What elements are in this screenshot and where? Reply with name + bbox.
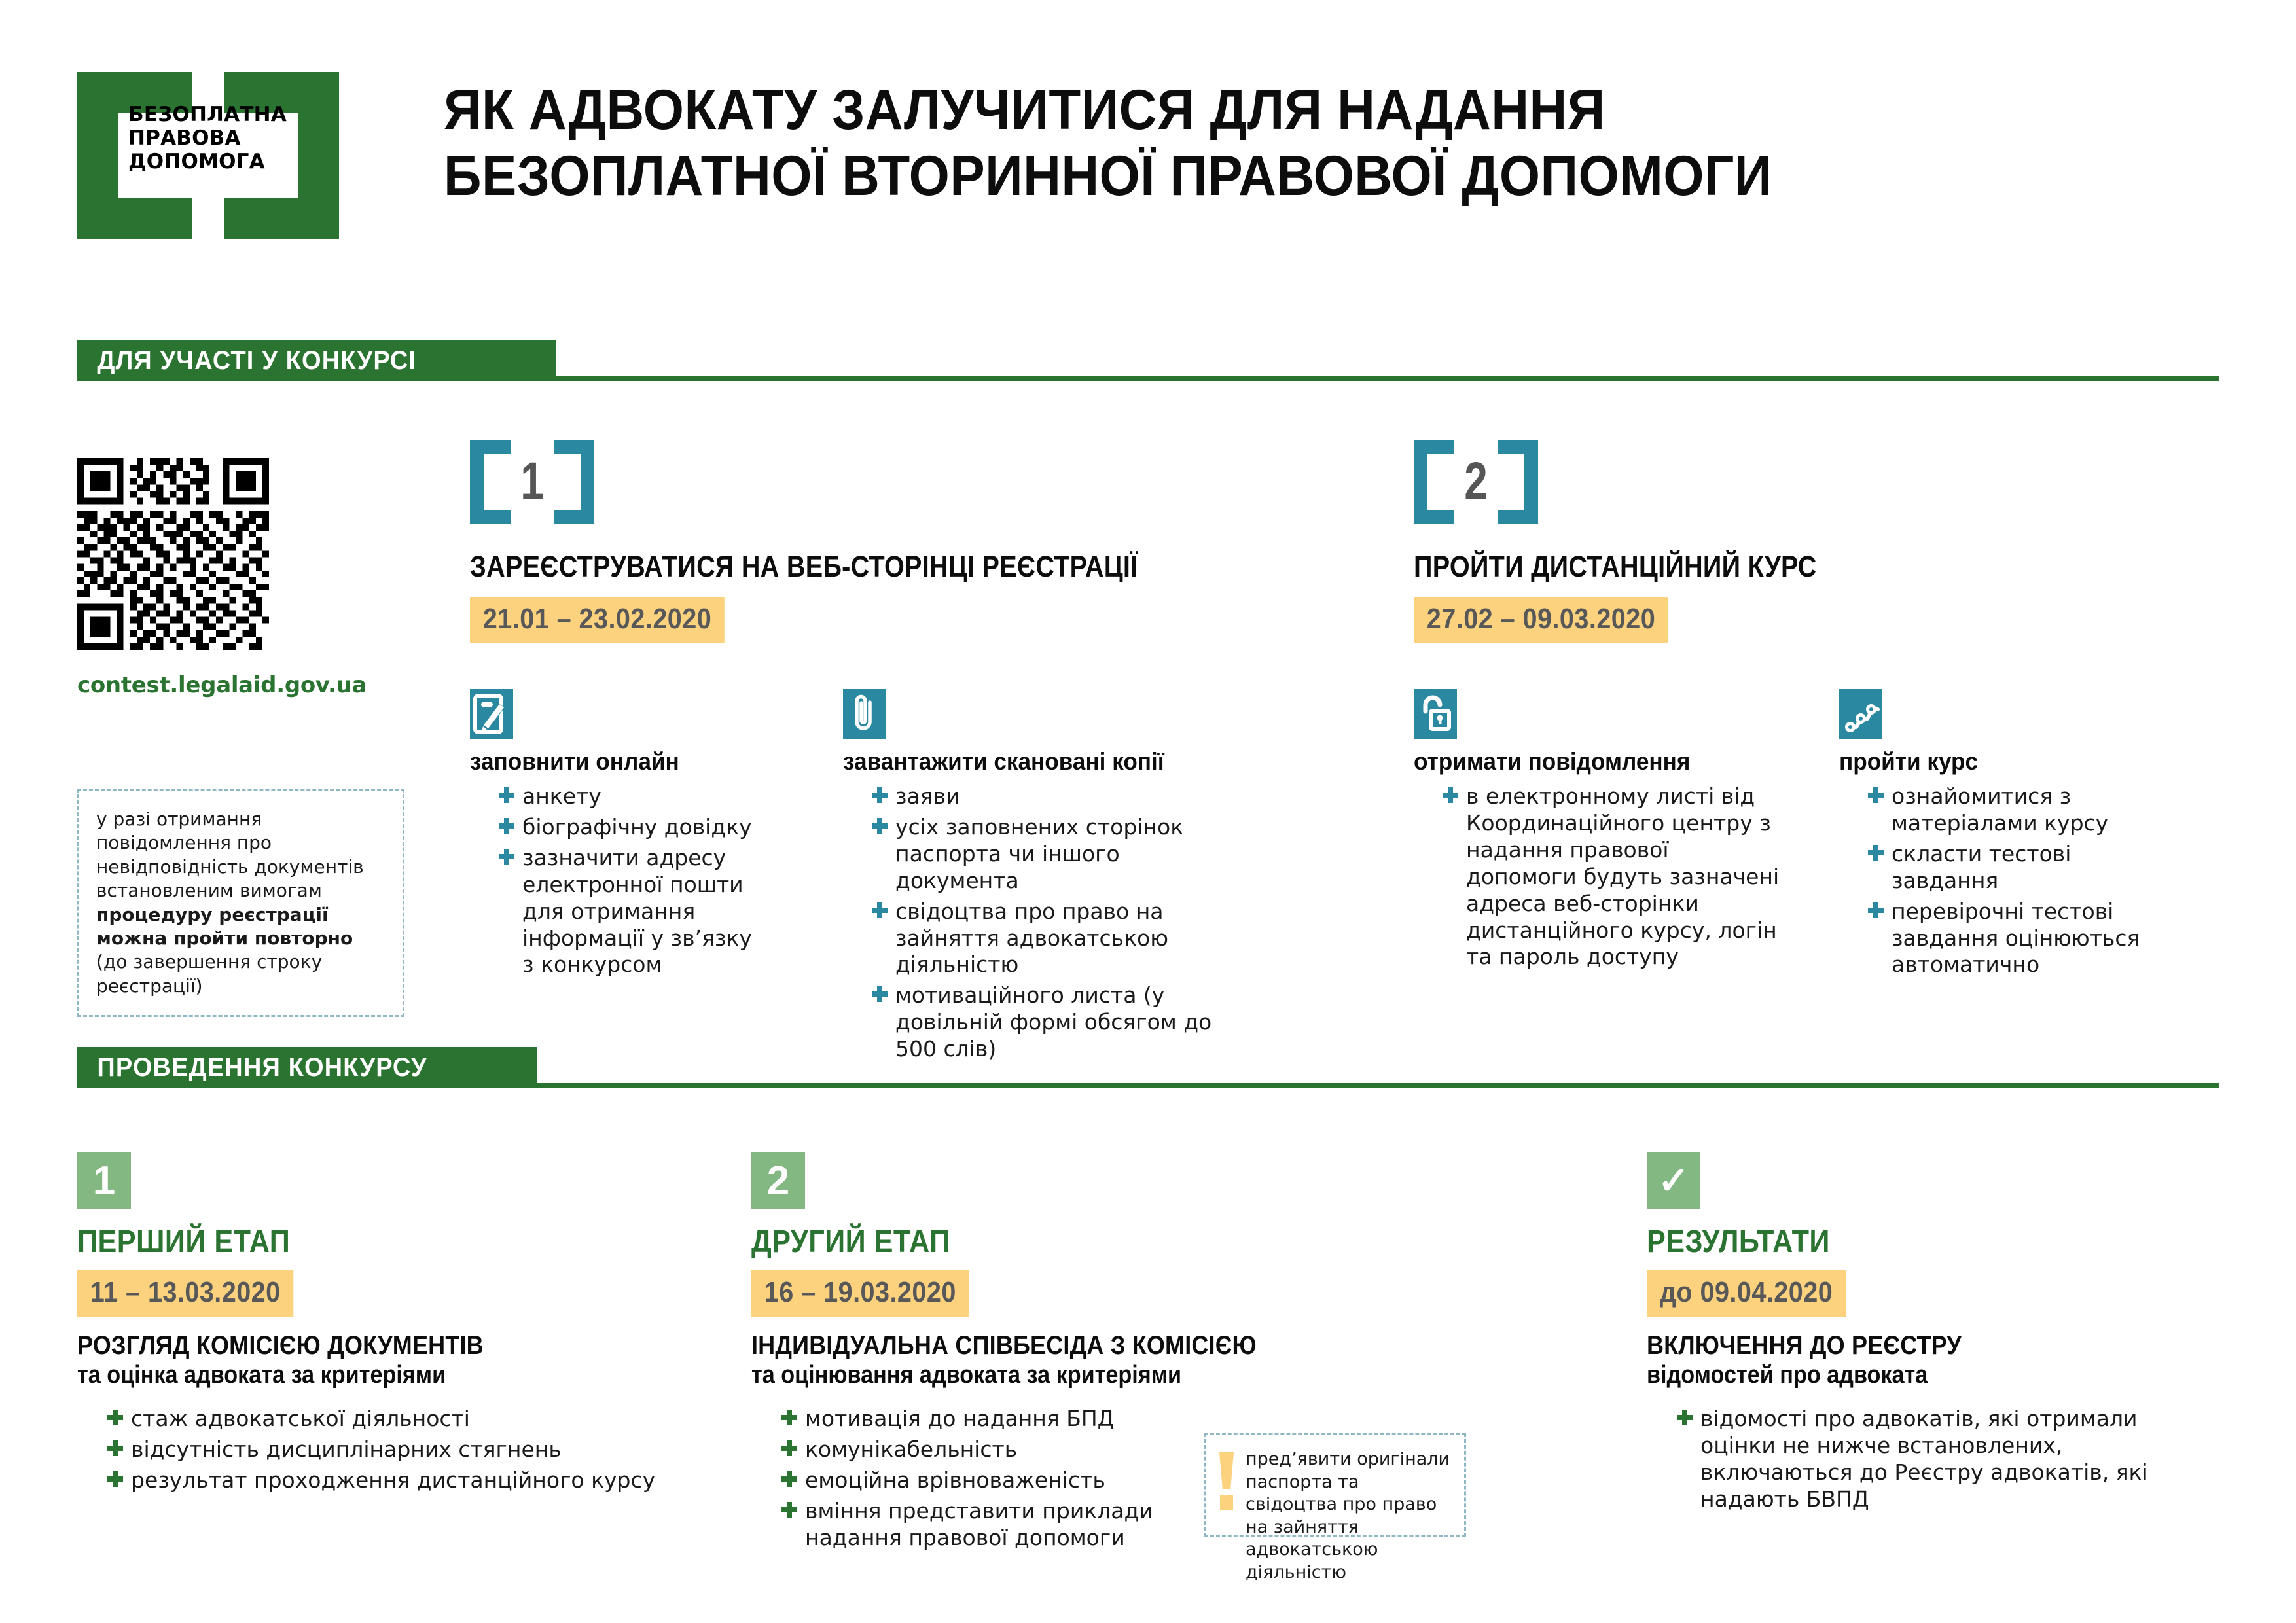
results-name: РЕЗУЛЬТАТИ [1647,1224,2165,1260]
stage-1-name: ПЕРШИЙ ЕТАП [77,1224,666,1260]
list-item-text: відомості про адвокатів, які отримали оц… [1700,1406,2148,1512]
list-item: відомості про адвокатів, які отримали оц… [1673,1406,2170,1513]
results-subtitle: відомостей про адвоката [1647,1361,2165,1391]
list-item: біографічну довідку [495,814,757,841]
list-item-text: зазначити адресу електронної пошти для о… [522,845,752,978]
paperclip-icon [843,689,886,739]
qr-code-icon [77,458,269,650]
step-2: 2 ПРОЙТИ ДИСТАНЦІЙНИЙ КУРС 27.02 – 09.03… [1414,440,2238,982]
note-text: у разі отримання повідомлення про невідп… [96,808,388,998]
list-item: усіх заповнених сторінок паспорта чи інш… [868,814,1234,895]
stage-1: 1 ПЕРШИЙ ЕТАП 11 – 13.03.2020 РОЗГЛЯД КО… [77,1152,732,1498]
plus-icon [107,1410,123,1425]
list-item: свідоцтва про право на зайняття адвокатс… [868,899,1234,979]
step-1-title: ЗАРЕЄСТРУВАТИСЯ НА ВЕБ-СТОРІНЦІ РЕЄСТРАЦ… [470,550,1288,584]
stage-1-title: РОЗГЛЯД КОМІСІЄЮ ДОКУМЕНТІВ [77,1331,666,1361]
list-item: заяви [868,783,1234,810]
step-1-date-badge: 21.01 – 23.02.2020 [470,597,725,643]
results-title: ВКЛЮЧЕННЯ ДО РЕЄСТРУ [1647,1331,2165,1361]
list-item: анкету [495,783,757,810]
plus-icon [107,1440,123,1456]
stage-results: ✓ РЕЗУЛЬТАТИ до 09.04.2020 ВКЛЮЧЕННЯ ДО … [1647,1152,2223,1517]
step-2-col-1-list: в електронному листі від Координаційного… [1439,783,1785,971]
stage-2-date-badge: 16 – 19.03.2020 [751,1270,969,1317]
list-item: результат проходження дистанційного курс… [103,1467,692,1494]
stage-2-subtitle: та оцінювання адвоката за критеріями [751,1361,1399,1391]
plus-icon [1677,1410,1693,1425]
list-item-text: усіх заповнених сторінок паспорта чи інш… [895,814,1183,893]
step-2-column-get-notification: отримати повідомлення в електронному лис… [1414,689,1839,982]
list-item-text: свідоцтва про право на зайняття адвокатс… [895,899,1168,978]
list-item-text: мотивація до надання БПД [805,1406,1114,1431]
section-label-participation: ДЛЯ УЧАСТІ У КОНКУРСІ [77,340,556,381]
list-item: перевірочні тестові завдання оцінюються … [1864,899,2178,979]
section-bar-participation: ДЛЯ УЧАСТІ У КОНКУРСІ [77,340,2219,381]
section-bar-contest: ПРОВЕДЕННЯ КОНКУРСУ [77,1047,2219,1088]
step-2-title: ПРОЙТИ ДИСТАНЦІЙНИЙ КУРС [1414,550,2140,584]
plus-icon [499,849,514,865]
plus-icon [872,902,888,918]
open-padlock-icon [1414,689,1457,739]
list-item-text: стаж адвокатської діяльності [131,1406,470,1431]
checkmark-icon: ✓ [1647,1152,1700,1209]
note-text-after: (до завершення строку реєстрації) [96,951,322,996]
course-path-icon [1839,689,1882,739]
list-item: ознайомитися з матеріалами курсу [1864,783,2178,837]
step-1-col-1-list: анкету біографічну довідку зазначити адр… [495,783,757,978]
step-2-date-badge: 27.02 – 09.03.2020 [1414,597,1668,643]
list-item: в електронному листі від Координаційного… [1439,783,1785,971]
list-item-text: перевірочні тестові завдання оцінюються … [1892,899,2140,978]
page-title: ЯК АДВОКАТУ ЗАЛУЧИТИСЯ ДЛЯ НАДАННЯ БЕЗОП… [444,77,2087,209]
plus-icon [781,1502,797,1518]
registration-retry-note: у разі отримання повідомлення про невідп… [77,789,404,1017]
step-2-number-bracket: 2 [1414,440,1538,524]
stage-2-number-badge: 2 [751,1152,805,1209]
page-header: Безоплатна правова допомога ЯК АДВОКАТУ … [0,0,2296,281]
step-2-col-2-heading: пройти курс [1839,748,2219,776]
section-label-contest: ПРОВЕДЕННЯ КОНКУРСУ [77,1047,537,1088]
plus-icon [1868,787,1884,803]
plus-icon [872,787,888,803]
step-1-col-1-heading: заповнити онлайн [470,748,825,776]
step-2-col-2-list: ознайомитися з матеріалами курсу скласти… [1864,783,2178,978]
list-item-text: комунікабельність [805,1436,1017,1462]
plus-icon [1868,845,1884,861]
plus-icon [499,818,514,834]
list-item: емоційна врівноваженість [778,1467,1196,1494]
results-check-badge: ✓ [1647,1152,1700,1209]
step-1-column-upload-scans: завантажити скановані копії заяви усіх з… [843,689,1340,1067]
stage-2-criteria-list: мотивація до надання БПД комунікабельніс… [778,1406,1196,1552]
list-item: стаж адвокатської діяльності [103,1406,692,1433]
step-2-column-take-course: пройти курс ознайомитися з матеріалами к… [1839,689,2238,982]
stage-2-number: 2 [751,1152,805,1209]
plus-icon [781,1471,797,1487]
step-2-col-1-heading: отримати повідомлення [1414,748,1818,776]
exclamation-icon [1218,1452,1235,1522]
list-item-text: ознайомитися з матеріалами курсу [1892,783,2108,836]
list-item: скласти тестові завдання [1864,841,2178,895]
stage-2-name: ДРУГИЙ ЕТАП [751,1224,1399,1260]
list-item-text: в електронному листі від Координаційного… [1466,783,1779,969]
stage-1-criteria-list: стаж адвокатської діяльності відсутність… [103,1406,692,1494]
step-1-number-bracket: 1 [470,440,594,524]
bpd-logo: Безоплатна правова допомога [77,72,339,239]
list-item: зазначити адресу електронної пошти для о… [495,845,757,979]
list-item: відсутність дисциплінарних стягнень [103,1436,692,1463]
note-text-before: у разі отримання повідомлення про невідп… [96,808,364,901]
plus-icon [1868,902,1884,918]
list-item-text: заяви [895,783,960,809]
step-1-col-2-heading: завантажити скановані копії [843,748,1316,776]
results-list: відомості про адвокатів, які отримали оц… [1673,1406,2170,1513]
list-item-text: скласти тестові завдання [1892,841,2071,893]
note-text-bold: процедуру реєстрації можна пройти повтор… [96,904,353,949]
step-1-number: 1 [484,440,581,524]
plus-icon [499,787,514,803]
step-2-number: 2 [1427,440,1524,524]
list-item: вміння представити приклади надання прав… [778,1498,1196,1552]
form-pen-icon [470,689,513,739]
plus-icon [107,1471,123,1487]
stage-2-title: ІНДИВІДУАЛЬНА СПІВБЕСІДА З КОМІСІЄЮ [751,1331,1399,1361]
list-item-text: анкету [522,783,601,809]
list-item-text: біографічну довідку [522,814,752,840]
originals-warning-box: пред’явити оригінали паспорта та свідоцт… [1204,1433,1466,1537]
plus-icon [1443,787,1458,803]
plus-icon [781,1410,797,1425]
plus-icon [872,986,888,1002]
page-title-line1: ЯК АДВОКАТУ ЗАЛУЧИТИСЯ ДЛЯ НАДАННЯ [444,77,2087,143]
infographic-page: Безоплатна правова допомога ЯК АДВОКАТУ … [0,0,2296,1623]
stage-1-date-badge: 11 – 13.03.2020 [77,1270,293,1317]
list-item-text: вміння представити приклади надання прав… [805,1498,1153,1550]
plus-icon [872,818,888,834]
plus-icon [781,1440,797,1456]
step-1: 1 ЗАРЕЄСТРУВАТИСЯ НА ВЕБ-СТОРІНЦІ РЕЄСТР… [470,440,1399,1067]
step-1-column-fill-online: заповнити онлайн анкету біографічну дові… [470,689,843,1067]
list-item-text: результат проходження дистанційного курс… [131,1467,655,1493]
results-date-badge: до 09.04.2020 [1647,1270,1846,1317]
page-title-line2: БЕЗОПЛАТНОЇ ВТОРИННОЇ ПРАВОВОЇ ДОПОМОГИ [444,143,2087,209]
logo-text: Безоплатна правова допомога [128,103,292,174]
contest-url[interactable]: contest.legalaid.gov.ua [77,672,367,698]
list-item-text: відсутність дисциплінарних стягнень [131,1436,562,1462]
stage-1-number-badge: 1 [77,1152,131,1209]
list-item: комунікабельність [778,1436,1196,1463]
list-item-text: емоційна врівноваженість [805,1467,1105,1493]
warning-text: пред’явити оригінали паспорта та свідоцт… [1246,1448,1452,1522]
stage-1-subtitle: та оцінка адвоката за критеріями [77,1361,666,1391]
step-1-col-2-list: заяви усіх заповнених сторінок паспорта … [868,783,1234,1063]
stage-1-number: 1 [77,1152,131,1209]
qr-block: contest.legalaid.gov.ua [77,458,367,698]
list-item: мотивація до надання БПД [778,1406,1196,1433]
